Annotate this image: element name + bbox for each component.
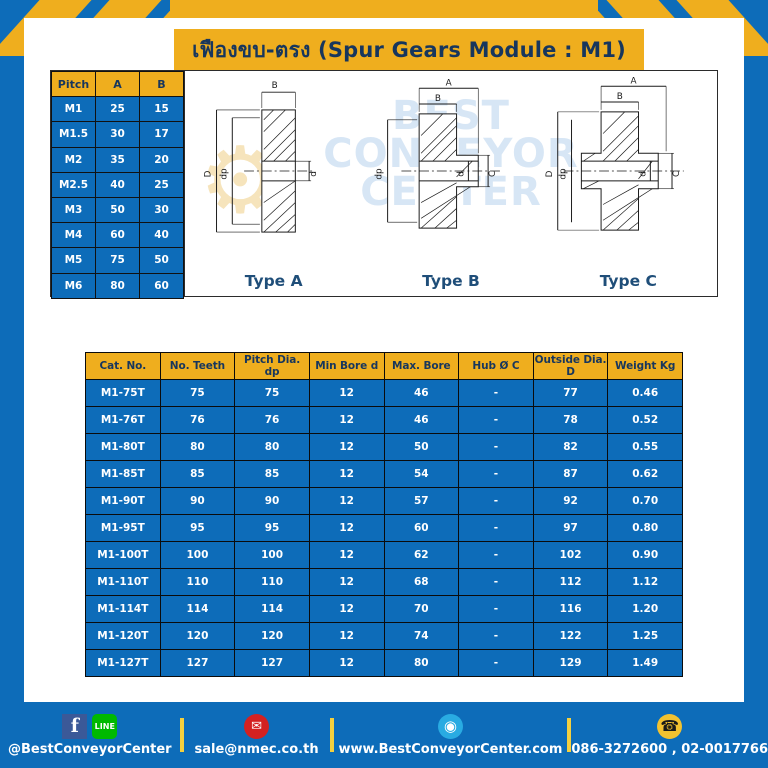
svg-text:C: C	[488, 171, 498, 177]
specs-cell-3-5: -	[459, 461, 534, 488]
specs-cell-7-1: 110	[160, 569, 235, 596]
specs-cell-8-1: 114	[160, 596, 235, 623]
specs-cell-0-4: 46	[384, 380, 459, 407]
pitch-row: M1.53017	[52, 122, 184, 147]
specs-cell-7-0: M1-110T	[86, 569, 161, 596]
specs-cell-10-3: 12	[309, 650, 384, 677]
pitch-cell-0-2: 15	[140, 97, 184, 122]
specs-row: M1-76T76761246-780.52	[86, 407, 683, 434]
drawing-type-a: B D dp d Type A	[185, 71, 362, 296]
specs-cell-5-7: 0.80	[608, 515, 683, 542]
specs-cell-9-4: 74	[384, 623, 459, 650]
svg-text:A: A	[630, 76, 636, 86]
specs-cell-1-7: 0.52	[608, 407, 683, 434]
specs-cell-3-3: 12	[309, 461, 384, 488]
pitch-row: M23520	[52, 147, 184, 172]
specs-cell-2-0: M1-80T	[86, 434, 161, 461]
svg-text:A: A	[446, 78, 452, 88]
specs-table-header-row: Cat. No.No. TeethPitch Dia. dpMin Bore d…	[86, 353, 683, 380]
specs-row: M1-85T85851254-870.62	[86, 461, 683, 488]
specs-cell-5-1: 95	[160, 515, 235, 542]
specs-cell-7-7: 1.12	[608, 569, 683, 596]
specs-cell-6-5: -	[459, 542, 534, 569]
pitch-cell-2-0: M2	[52, 147, 96, 172]
specs-cell-8-7: 1.20	[608, 596, 683, 623]
pitch-cell-0-1: 25	[96, 97, 140, 122]
specs-cell-1-5: -	[459, 407, 534, 434]
pitch-cell-2-1: 35	[96, 147, 140, 172]
pitch-cell-3-1: 40	[96, 172, 140, 197]
specs-cell-5-0: M1-95T	[86, 515, 161, 542]
specs-row: M1-80T80801250-820.55	[86, 434, 683, 461]
svg-text:C: C	[672, 171, 682, 177]
svg-text:D: D	[544, 170, 554, 177]
specs-cell-3-0: M1-85T	[86, 461, 161, 488]
specs-row: M1-127T1271271280-1291.49	[86, 650, 683, 677]
pitch-cell-7-2: 60	[140, 273, 184, 298]
svg-text:B: B	[435, 94, 441, 104]
pitch-cell-6-0: M5	[52, 248, 96, 273]
pitch-cell-5-2: 40	[140, 223, 184, 248]
specs-cell-3-6: 87	[533, 461, 608, 488]
svg-text:B: B	[272, 81, 278, 91]
specs-cell-4-0: M1-90T	[86, 488, 161, 515]
specs-cell-9-1: 120	[160, 623, 235, 650]
pitch-cell-6-2: 50	[140, 248, 184, 273]
specs-cell-2-6: 82	[533, 434, 608, 461]
line-icon[interactable]: LINE	[92, 714, 117, 739]
specs-cell-6-2: 100	[235, 542, 310, 569]
svg-text:B: B	[616, 92, 622, 102]
content-card: เฟืองขบ-ตรง (Spur Gears Module : M1) Pit…	[24, 18, 744, 702]
specs-cell-1-1: 76	[160, 407, 235, 434]
svg-text:D: D	[204, 170, 214, 177]
pitch-cell-3-0: M2.5	[52, 172, 96, 197]
specs-cell-0-2: 75	[235, 380, 310, 407]
email-icon[interactable]: ✉	[244, 714, 269, 739]
drawing-label-c: Type C	[540, 272, 717, 290]
specs-cell-3-1: 85	[160, 461, 235, 488]
pitch-table-body: M12515M1.53017M23520M2.54025M35030M46040…	[52, 97, 184, 299]
specs-cell-7-2: 110	[235, 569, 310, 596]
pitch-cell-2-2: 20	[140, 147, 184, 172]
pitch-row: M35030	[52, 197, 184, 222]
specs-cell-9-0: M1-120T	[86, 623, 161, 650]
pitch-cell-4-0: M3	[52, 197, 96, 222]
pitch-cell-0-0: M1	[52, 97, 96, 122]
specs-header-4: Max. Bore	[384, 353, 459, 380]
pitch-row: M46040	[52, 223, 184, 248]
specs-table: Cat. No.No. TeethPitch Dia. dpMin Bore d…	[85, 352, 683, 677]
specs-cell-6-0: M1-100T	[86, 542, 161, 569]
specs-cell-10-1: 127	[160, 650, 235, 677]
specs-cell-8-4: 70	[384, 596, 459, 623]
gear-section-c-svg: A B D dp d C	[540, 73, 717, 269]
footer-phone-label: 086-3272600 , 02-0017766	[571, 742, 768, 757]
specs-cell-10-5: -	[459, 650, 534, 677]
specs-header-2: Pitch Dia. dp	[235, 353, 310, 380]
specs-cell-10-0: M1-127T	[86, 650, 161, 677]
specs-cell-1-0: M1-76T	[86, 407, 161, 434]
specs-cell-8-0: M1-114T	[86, 596, 161, 623]
page-title: เฟืองขบ-ตรง (Spur Gears Module : M1)	[192, 34, 626, 67]
specs-cell-7-6: 112	[533, 569, 608, 596]
drawing-type-b: A B dp d C Type B	[362, 71, 539, 296]
footer-website-label: www.BestConveyorCenter.com	[338, 742, 562, 757]
specs-cell-9-6: 122	[533, 623, 608, 650]
specs-cell-10-2: 127	[235, 650, 310, 677]
specs-cell-2-3: 12	[309, 434, 384, 461]
footer-email-label: sale@nmec.co.th	[195, 742, 319, 757]
specs-cell-1-2: 76	[235, 407, 310, 434]
pitch-cell-5-0: M4	[52, 223, 96, 248]
pitch-cell-4-1: 50	[96, 197, 140, 222]
footer-item-website[interactable]: ◉ www.BestConveyorCenter.com	[334, 714, 568, 757]
pitch-cell-4-2: 30	[140, 197, 184, 222]
specs-cell-5-3: 12	[309, 515, 384, 542]
specs-row: M1-114T1141141270-1161.20	[86, 596, 683, 623]
specs-cell-10-6: 129	[533, 650, 608, 677]
specs-cell-8-2: 114	[235, 596, 310, 623]
specs-cell-9-2: 120	[235, 623, 310, 650]
pitch-table-header-row: PitchAB	[52, 72, 184, 97]
specs-cell-8-6: 116	[533, 596, 608, 623]
specs-cell-6-1: 100	[160, 542, 235, 569]
specs-cell-6-4: 62	[384, 542, 459, 569]
specs-cell-8-5: -	[459, 596, 534, 623]
specs-cell-9-3: 12	[309, 623, 384, 650]
specs-row: M1-100T1001001262-1020.90	[86, 542, 683, 569]
specs-cell-0-1: 75	[160, 380, 235, 407]
specs-table-wrapper: Cat. No.No. TeethPitch Dia. dpMin Bore d…	[85, 352, 683, 677]
pitch-cell-3-2: 25	[140, 172, 184, 197]
footer-item-phone[interactable]: ☎ 086-3272600 , 02-0017766	[571, 714, 768, 757]
specs-cell-4-1: 90	[160, 488, 235, 515]
page-title-banner: เฟืองขบ-ตรง (Spur Gears Module : M1)	[174, 29, 644, 71]
specs-table-body: M1-75T75751246-770.46M1-76T76761246-780.…	[86, 380, 683, 677]
specs-cell-7-3: 12	[309, 569, 384, 596]
svg-text:d: d	[309, 171, 319, 177]
drawing-type-c: A B D dp d C Type C	[540, 71, 717, 296]
specs-cell-3-4: 54	[384, 461, 459, 488]
svg-text:d: d	[457, 171, 467, 177]
specs-header-3: Min Bore d	[309, 353, 384, 380]
specs-cell-2-1: 80	[160, 434, 235, 461]
specs-row: M1-90T90901257-920.70	[86, 488, 683, 515]
specs-cell-2-2: 80	[235, 434, 310, 461]
svg-text:dp: dp	[375, 168, 385, 180]
gear-section-b-svg: A B dp d C	[362, 73, 539, 269]
specs-cell-4-2: 90	[235, 488, 310, 515]
pitch-table-wrapper: PitchAB M12515M1.53017M23520M2.54025M350…	[51, 71, 185, 296]
pitch-cell-1-0: M1.5	[52, 122, 96, 147]
specs-cell-4-7: 0.70	[608, 488, 683, 515]
drawing-label-a: Type A	[185, 272, 362, 290]
contact-footer: f LINE @BestConveyorCenter ✉ sale@nmec.c…	[0, 702, 768, 768]
drawings-panel: ⚙ BEST CONVEYOR CENTER	[185, 71, 717, 296]
specs-cell-9-5: -	[459, 623, 534, 650]
facebook-icon[interactable]: f	[62, 714, 87, 739]
globe-icon[interactable]: ◉	[438, 714, 463, 739]
specs-cell-6-3: 12	[309, 542, 384, 569]
specs-header-1: No. Teeth	[160, 353, 235, 380]
footer-item-email[interactable]: ✉ sale@nmec.co.th	[184, 714, 330, 757]
specs-header-7: Weight Kg	[608, 353, 683, 380]
specs-cell-4-5: -	[459, 488, 534, 515]
specs-row: M1-120T1201201274-1221.25	[86, 623, 683, 650]
svg-text:dp: dp	[558, 168, 568, 180]
pitch-table: PitchAB M12515M1.53017M23520M2.54025M350…	[51, 71, 184, 299]
specs-cell-0-3: 12	[309, 380, 384, 407]
specs-cell-6-7: 0.90	[608, 542, 683, 569]
specs-cell-5-2: 95	[235, 515, 310, 542]
specs-cell-1-3: 12	[309, 407, 384, 434]
reference-panel: PitchAB M12515M1.53017M23520M2.54025M350…	[50, 70, 718, 297]
specs-header-6: Outside Dia. D	[533, 353, 608, 380]
specs-cell-2-5: -	[459, 434, 534, 461]
specs-cell-4-3: 12	[309, 488, 384, 515]
specs-row: M1-110T1101101268-1121.12	[86, 569, 683, 596]
specs-cell-3-7: 0.62	[608, 461, 683, 488]
phone-icon[interactable]: ☎	[657, 714, 682, 739]
specs-cell-1-4: 46	[384, 407, 459, 434]
pitch-header-0: Pitch	[52, 72, 96, 97]
specs-cell-2-4: 50	[384, 434, 459, 461]
specs-cell-5-4: 60	[384, 515, 459, 542]
specs-cell-4-4: 57	[384, 488, 459, 515]
specs-header-0: Cat. No.	[86, 353, 161, 380]
pitch-header-2: B	[140, 72, 184, 97]
specs-cell-5-6: 97	[533, 515, 608, 542]
pitch-row: M2.54025	[52, 172, 184, 197]
footer-social-label: @BestConveyorCenter	[8, 742, 172, 757]
specs-cell-2-7: 0.55	[608, 434, 683, 461]
specs-row: M1-75T75751246-770.46	[86, 380, 683, 407]
pitch-cell-7-1: 80	[96, 273, 140, 298]
specs-header-5: Hub Ø C	[459, 353, 534, 380]
pitch-row: M12515	[52, 97, 184, 122]
pitch-row: M57550	[52, 248, 184, 273]
specs-cell-0-0: M1-75T	[86, 380, 161, 407]
gear-section-a-svg: B D dp d	[185, 73, 362, 269]
svg-text:d: d	[638, 171, 648, 177]
pitch-row: M68060	[52, 273, 184, 298]
specs-cell-0-7: 0.46	[608, 380, 683, 407]
footer-item-social[interactable]: f LINE @BestConveyorCenter	[0, 714, 180, 757]
specs-cell-7-4: 68	[384, 569, 459, 596]
drawing-label-b: Type B	[362, 272, 539, 290]
specs-cell-10-4: 80	[384, 650, 459, 677]
pitch-cell-6-1: 75	[96, 248, 140, 273]
svg-text:dp: dp	[219, 168, 229, 180]
specs-cell-6-6: 102	[533, 542, 608, 569]
specs-cell-4-6: 92	[533, 488, 608, 515]
specs-cell-0-6: 77	[533, 380, 608, 407]
pitch-cell-5-1: 60	[96, 223, 140, 248]
specs-cell-0-5: -	[459, 380, 534, 407]
specs-cell-8-3: 12	[309, 596, 384, 623]
pitch-cell-7-0: M6	[52, 273, 96, 298]
specs-row: M1-95T95951260-970.80	[86, 515, 683, 542]
pitch-header-1: A	[96, 72, 140, 97]
specs-cell-1-6: 78	[533, 407, 608, 434]
specs-cell-5-5: -	[459, 515, 534, 542]
pitch-cell-1-2: 17	[140, 122, 184, 147]
specs-cell-10-7: 1.49	[608, 650, 683, 677]
specs-cell-9-7: 1.25	[608, 623, 683, 650]
specs-cell-7-5: -	[459, 569, 534, 596]
pitch-cell-1-1: 30	[96, 122, 140, 147]
specs-cell-3-2: 85	[235, 461, 310, 488]
